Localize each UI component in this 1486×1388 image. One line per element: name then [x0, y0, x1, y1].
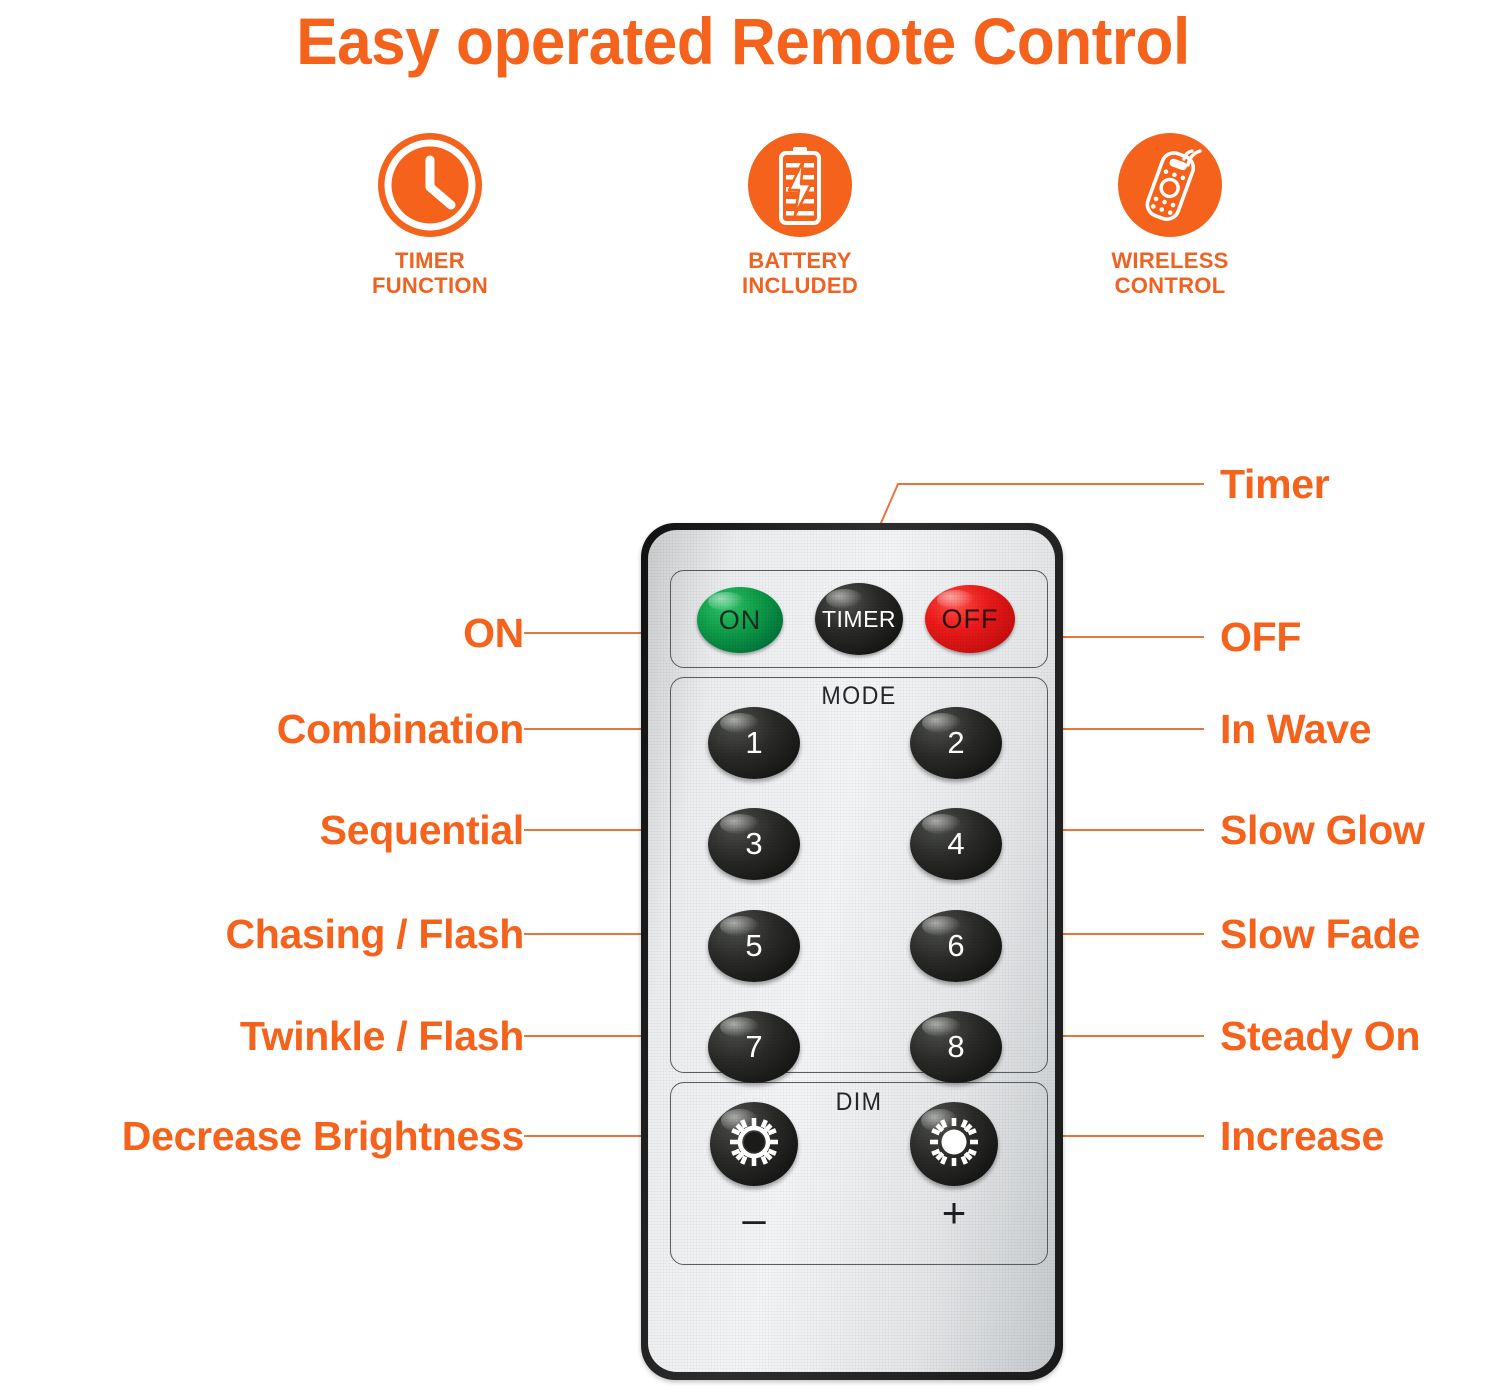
callout-on: ON — [124, 611, 524, 655]
mode-button-label: 4 — [947, 826, 964, 862]
page-title: Easy operated Remote Control — [45, 2, 1442, 80]
mode-button-label: 8 — [947, 1029, 964, 1065]
timer-button-label: TIMER — [822, 606, 896, 633]
mode-button-label: 1 — [745, 725, 762, 761]
infographic-page: Easy operated Remote Control TIMER FUNCT… — [0, 0, 1486, 1388]
feature-timer-function: TIMER FUNCTION — [300, 133, 560, 298]
on-button-label: ON — [719, 605, 762, 636]
mode-button-1[interactable]: 1 — [708, 707, 800, 779]
mode-button-label: 5 — [745, 928, 762, 964]
dim-decrease-button[interactable] — [710, 1102, 798, 1186]
callout-sequential: Sequential — [124, 808, 524, 852]
sun-bright-icon — [927, 1115, 981, 1174]
dim-decrease-sign: – — [710, 1198, 798, 1240]
feature-caption: BATTERY INCLUDED — [742, 248, 858, 298]
mode-button-label: 6 — [947, 928, 964, 964]
callout-twinkle-flash: Twinkle / Flash — [104, 1014, 524, 1058]
feature-wireless-control: WIRELESS CONTROL — [1040, 133, 1300, 298]
sun-dim-icon — [727, 1115, 781, 1174]
mode-button-label: 2 — [947, 725, 964, 761]
callout-combination: Combination — [124, 707, 524, 751]
remote-control: ON TIMER OFF MODE 1 2 3 4 — [641, 523, 1063, 1380]
feature-battery-included: BATTERY INCLUDED — [670, 133, 930, 298]
remote-face: ON TIMER OFF MODE 1 2 3 4 — [648, 530, 1055, 1372]
callout-timer: Timer — [1220, 462, 1329, 506]
clock-icon — [378, 133, 482, 237]
callout-increase: Increase — [1220, 1114, 1384, 1158]
timer-button[interactable]: TIMER — [815, 583, 903, 655]
mode-button-3[interactable]: 3 — [708, 808, 800, 880]
callout-slow-fade: Slow Fade — [1220, 912, 1420, 956]
callout-slow-glow: Slow Glow — [1220, 808, 1425, 852]
callout-decrease-brightness: Decrease Brightness — [14, 1114, 524, 1158]
mode-button-8[interactable]: 8 — [910, 1011, 1002, 1083]
dim-section-label: DIM — [663, 1088, 1055, 1117]
feature-caption: TIMER FUNCTION — [372, 248, 488, 298]
mode-section-label: MODE — [663, 682, 1055, 711]
mode-button-2[interactable]: 2 — [910, 707, 1002, 779]
off-button[interactable]: OFF — [925, 585, 1015, 653]
callout-steady-on: Steady On — [1220, 1014, 1420, 1058]
remote-signal-icon — [1118, 133, 1222, 237]
callout-in-wave: In Wave — [1220, 707, 1371, 751]
on-button[interactable]: ON — [697, 587, 783, 653]
callout-chasing-flash: Chasing / Flash — [104, 912, 524, 956]
dim-increase-button[interactable] — [910, 1102, 998, 1186]
mode-button-7[interactable]: 7 — [708, 1011, 800, 1083]
off-button-label: OFF — [942, 604, 999, 635]
battery-icon — [748, 133, 852, 237]
feature-caption: WIRELESS CONTROL — [1111, 248, 1228, 298]
mode-button-6[interactable]: 6 — [910, 910, 1002, 982]
callout-off: OFF — [1220, 615, 1301, 659]
mode-button-5[interactable]: 5 — [708, 910, 800, 982]
mode-button-4[interactable]: 4 — [910, 808, 1002, 880]
dim-increase-sign: + — [910, 1192, 998, 1234]
mode-button-label: 7 — [745, 1029, 762, 1065]
mode-button-label: 3 — [745, 826, 762, 862]
feature-badges: TIMER FUNCTION BATTERY INCLUDED — [300, 133, 1300, 323]
